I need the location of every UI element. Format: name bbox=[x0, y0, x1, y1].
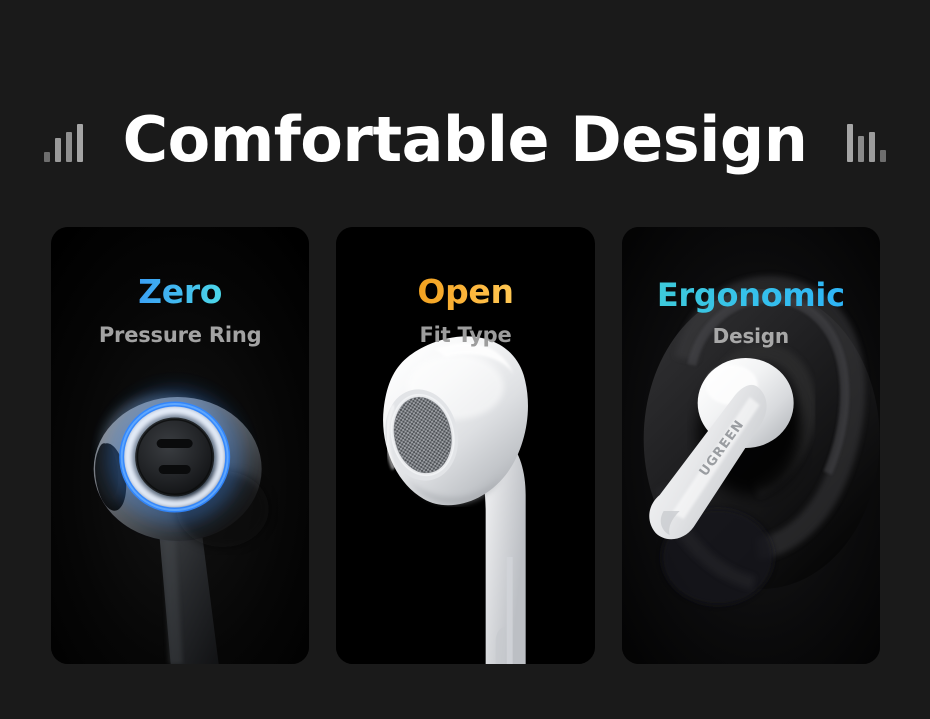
card-kicker: Zero bbox=[138, 275, 222, 310]
card-heading-group: Zero Pressure Ring bbox=[51, 227, 309, 347]
header: Comfortable Design bbox=[0, 92, 930, 187]
promo-banner: Comfortable Design bbox=[0, 0, 930, 719]
page-title: Comfortable Design bbox=[123, 109, 808, 171]
card-heading-group: Ergonomic Design bbox=[622, 227, 880, 348]
feature-card-ergonomic-design[interactable]: UGREEN Ergonomic Design bbox=[622, 227, 880, 664]
feature-card-list: Zero Pressure Ring bbox=[51, 227, 880, 664]
card-subhead: Fit Type bbox=[336, 323, 594, 347]
card-subhead: Pressure Ring bbox=[51, 323, 309, 347]
equalizer-bars-icon-right bbox=[847, 118, 886, 162]
card-heading-group: Open Fit Type bbox=[336, 227, 594, 347]
feature-card-open-fit-type[interactable]: Open Fit Type bbox=[336, 227, 594, 664]
card-subhead: Design bbox=[622, 324, 880, 348]
feature-card-zero-pressure-ring[interactable]: Zero Pressure Ring bbox=[51, 227, 309, 664]
card-kicker: Open bbox=[417, 275, 513, 310]
equalizer-bars-icon-left bbox=[44, 118, 83, 162]
card-kicker: Ergonomic bbox=[657, 279, 845, 313]
